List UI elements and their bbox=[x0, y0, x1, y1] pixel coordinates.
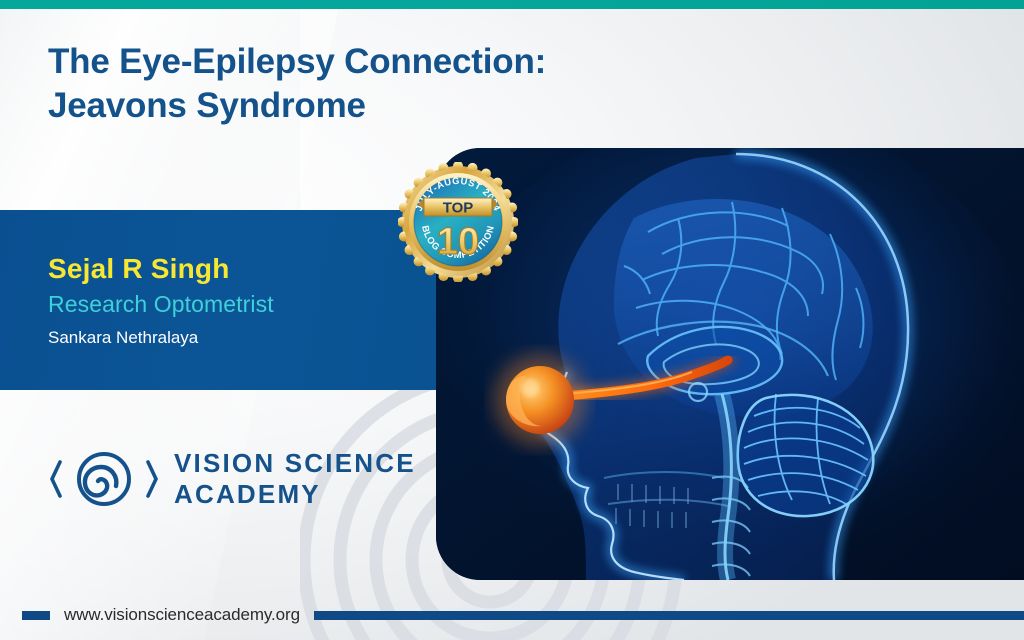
logo-line-2: ACADEMY bbox=[174, 479, 416, 510]
badge-rank-number: 10 bbox=[437, 221, 479, 263]
slide-title: The Eye-Epilepsy Connection: Jeavons Syn… bbox=[48, 40, 688, 129]
left-bracket-icon bbox=[52, 462, 60, 496]
top-accent-bar bbox=[0, 0, 1024, 9]
title-line-2: Jeavons Syndrome bbox=[48, 84, 688, 128]
speaker-name: Sejal R Singh bbox=[48, 252, 274, 286]
award-badge: JULY-AUGUST 2024 BLOG COMPETITION TOP 10 bbox=[398, 162, 518, 282]
organization-logo: VISION SCIENCE ACADEMY bbox=[48, 442, 416, 516]
presentation-slide: The Eye-Epilepsy Connection: Jeavons Syn… bbox=[0, 0, 1024, 640]
title-line-1: The Eye-Epilepsy Connection: bbox=[48, 42, 546, 81]
footer-rule bbox=[314, 611, 1024, 620]
speaker-info: Sejal R Singh Research Optometrist Sanka… bbox=[48, 252, 274, 349]
speaker-organization: Sankara Nethralaya bbox=[48, 326, 274, 350]
logo-wordmark: VISION SCIENCE ACADEMY bbox=[174, 448, 416, 509]
illustration-panel bbox=[436, 148, 1024, 580]
eye-spiral-icon bbox=[79, 454, 129, 504]
right-bracket-icon bbox=[148, 462, 156, 496]
logo-line-1: VISION SCIENCE bbox=[174, 448, 416, 479]
head-anatomy-illustration bbox=[436, 148, 1024, 580]
badge-ribbon-text: TOP bbox=[443, 200, 474, 217]
speaker-role: Research Optometrist bbox=[48, 289, 274, 320]
footer-left-dash bbox=[22, 611, 50, 620]
footer-website-url[interactable]: www.visionscienceacademy.org bbox=[64, 605, 300, 625]
vision-science-academy-mark bbox=[48, 442, 160, 516]
badge-ribbon: TOP bbox=[418, 198, 498, 217]
footer: www.visionscienceacademy.org bbox=[0, 604, 1024, 626]
